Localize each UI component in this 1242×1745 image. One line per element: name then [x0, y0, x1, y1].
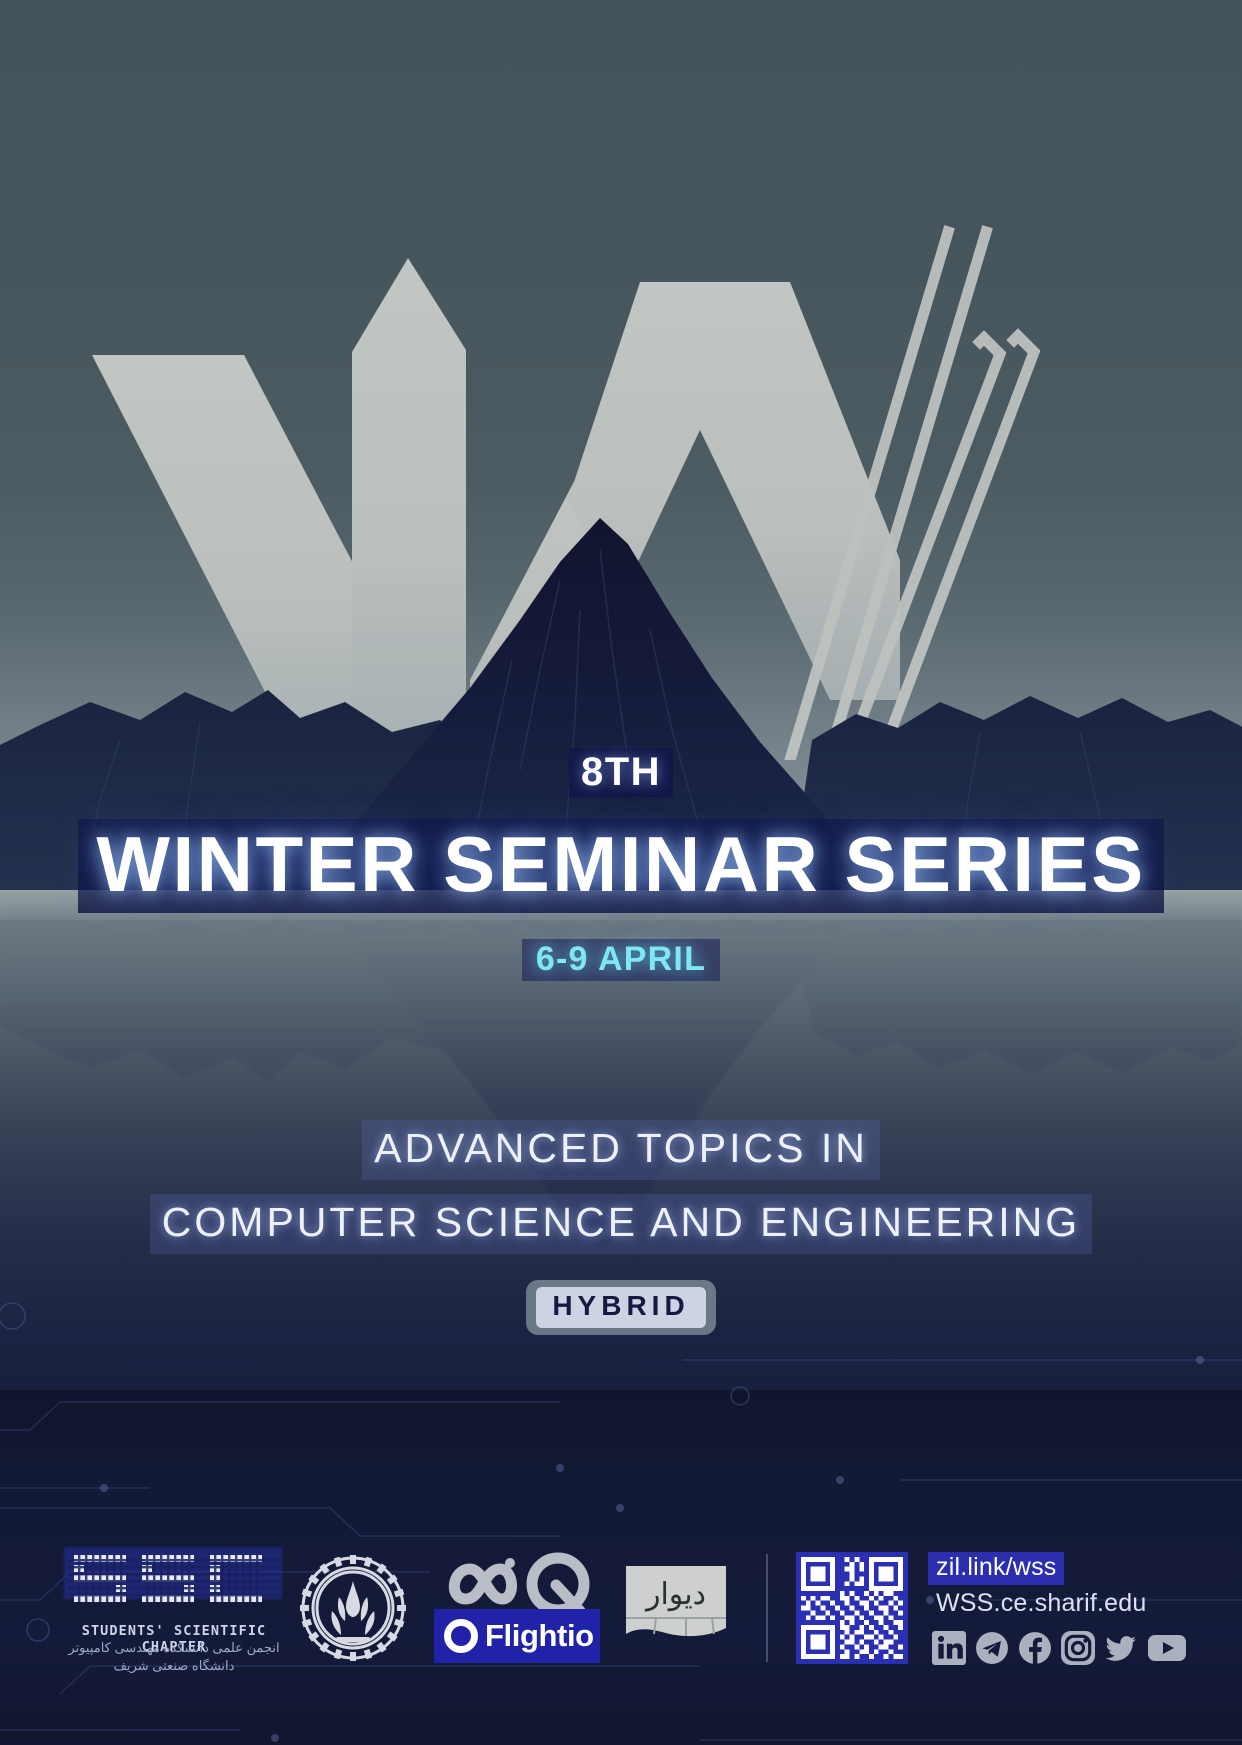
footer: STUDENTS' SCIENTIFIC CHAPTER انجمن علمی …: [0, 1518, 1242, 1698]
qr-code[interactable]: [796, 1552, 908, 1664]
date-row: 6-9 APRIL: [0, 939, 1242, 981]
subtitle-row-2: COMPUTER SCIENCE AND ENGINEERING: [0, 1194, 1242, 1254]
sponsor-logo-divar[interactable]: دیوار: [620, 1552, 732, 1664]
title-block: 8TH WINTER SEMINAR SERIES 6-9 APRIL: [0, 748, 1242, 981]
contact-block: zil.link/wss WSS.ce.sharif.edu: [796, 1552, 1187, 1665]
divar-persian-label: دیوار: [644, 1577, 706, 1612]
edition-ordinal: 8TH: [569, 748, 673, 797]
main-title-row: WINTER SEMINAR SERIES: [0, 819, 1242, 913]
sponsor-logos: STUDENTS' SCIENTIFIC CHAPTER انجمن علمی …: [0, 1543, 732, 1673]
poster: 8TH WINTER SEMINAR SERIES 6-9 APRIL ADVA…: [0, 0, 1242, 1745]
subtitle-line-2: COMPUTER SCIENCE AND ENGINEERING: [150, 1194, 1092, 1254]
format-badge-label: HYBRID: [536, 1287, 705, 1328]
status-badge: HYBRID: [526, 1280, 715, 1335]
facebook-icon[interactable]: [1018, 1631, 1052, 1665]
instagram-icon[interactable]: [1061, 1631, 1095, 1665]
twitter-icon[interactable]: [1104, 1631, 1138, 1665]
event-dates: 6-9 APRIL: [522, 939, 720, 981]
youtube-icon[interactable]: [1147, 1631, 1187, 1665]
format-badge-row: HYBRID: [0, 1280, 1242, 1335]
social-links: [928, 1631, 1187, 1665]
short-link[interactable]: zil.link/wss: [928, 1552, 1064, 1585]
footer-divider: [766, 1554, 768, 1662]
sponsor-logo-ssc[interactable]: STUDENTS' SCIENTIFIC CHAPTER انجمن علمی …: [68, 1543, 280, 1673]
linkedin-icon[interactable]: [932, 1631, 966, 1665]
subtitle-row-1: ADVANCED TOPICS IN: [0, 1120, 1242, 1180]
ssc-acronym-icon: [68, 1549, 280, 1621]
telegram-icon[interactable]: [975, 1631, 1009, 1665]
sponsor-logo-flightio[interactable]: Flightio: [434, 1549, 602, 1667]
page-title: WINTER SEMINAR SERIES: [78, 819, 1163, 913]
contact-links: zil.link/wss WSS.ce.sharif.edu: [928, 1552, 1187, 1665]
subtitle-line-1: ADVANCED TOPICS IN: [362, 1120, 880, 1180]
flightio-label: Flightio: [485, 1618, 594, 1654]
flightio-ring-icon: [444, 1619, 478, 1653]
subtitle-block: ADVANCED TOPICS IN COMPUTER SCIENCE AND …: [0, 1120, 1242, 1335]
flightio-wordmark: Flightio: [434, 1609, 600, 1663]
ssc-persian-label: انجمن علمی دانشکده مهندسی کامپیوتر دانشگ…: [68, 1639, 280, 1674]
website-link[interactable]: WSS.ce.sharif.edu: [928, 1588, 1154, 1621]
sponsor-logo-sharif-university[interactable]: [298, 1553, 408, 1663]
